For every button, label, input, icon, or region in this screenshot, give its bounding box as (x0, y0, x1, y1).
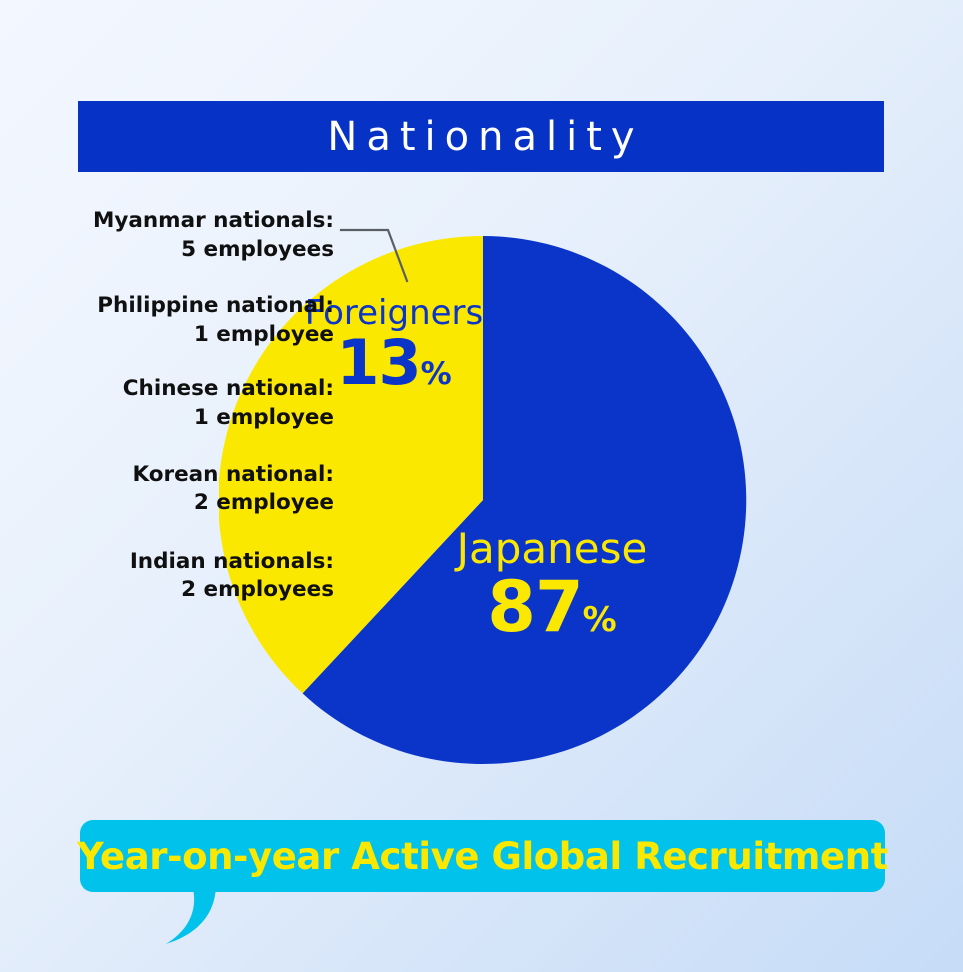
annotation-myanmar: Myanmar nationals: 5 employees (0, 207, 334, 264)
annotation-chinese-label: Chinese national: (0, 375, 334, 404)
annotation-korean-label: Korean national: (0, 461, 334, 490)
annotation-chinese: Chinese national: 1 employee (0, 375, 334, 432)
annotation-indian-count: 2 employees (0, 576, 334, 605)
nationality-infographic: Nationality Foreigners 13% Japanese 87% … (0, 0, 963, 972)
speech-bubble-tail-icon (122, 884, 232, 946)
page-title: Nationality (318, 117, 643, 157)
callout-banner: Year-on-year Active Global Recruitment (80, 820, 885, 892)
annotation-indian: Indian nationals: 2 employees (0, 548, 334, 605)
annotation-list: Myanmar nationals: 5 employees Philippin… (0, 207, 334, 605)
annotation-philippine: Philippine national: 1 employee (0, 292, 334, 349)
title-banner: Nationality (78, 101, 884, 172)
callout-body: Year-on-year Active Global Recruitment (80, 820, 885, 892)
annotation-korean-count: 2 employee (0, 489, 334, 518)
annotation-korean: Korean national: 2 employee (0, 461, 334, 518)
annotation-philippine-label: Philippine national: (0, 292, 334, 321)
annotation-myanmar-count: 5 employees (0, 236, 334, 265)
annotation-myanmar-label: Myanmar nationals: (0, 207, 334, 236)
annotation-indian-label: Indian nationals: (0, 548, 334, 577)
annotation-chinese-count: 1 employee (0, 404, 334, 433)
annotation-philippine-count: 1 employee (0, 321, 334, 350)
callout-text: Year-on-year Active Global Recruitment (77, 838, 888, 875)
